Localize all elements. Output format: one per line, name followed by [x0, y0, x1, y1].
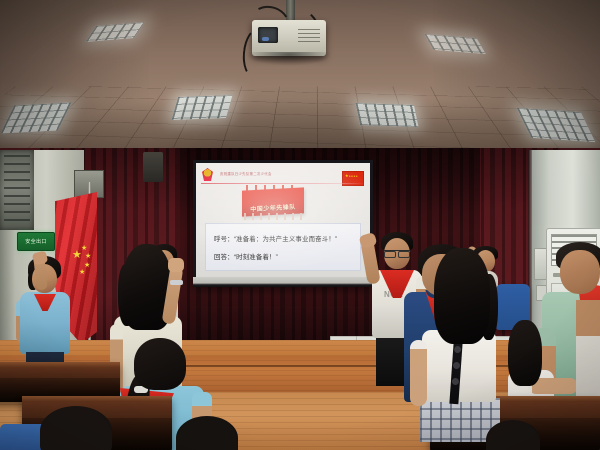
projector-lens-icon [258, 27, 278, 43]
man-white-saluting-hand [359, 232, 378, 249]
wristwatch-icon [170, 280, 183, 285]
woman-plaid-arm [410, 340, 427, 406]
person-foreground-head-left [40, 406, 112, 450]
left-wall-vent-panel [0, 150, 34, 230]
flag-star-icon: ★ [84, 262, 90, 269]
young-pioneers-emblem-icon [202, 168, 213, 181]
woman-cream-saluting-hand [168, 258, 184, 272]
girl-ponytail-hair [134, 338, 186, 390]
slide-banner-text: 中国少年先锋队 [242, 201, 304, 213]
desk-top-surface [22, 396, 172, 402]
ceiling-projector [252, 20, 326, 56]
flag-star-icon: ★ [85, 253, 91, 260]
classroom-photo-scene: 安全出口 ★ ★ ★ ★ ★ 庆祝建队日少先队第二次少代会 ★★★★★ 中国少年… [0, 0, 600, 450]
flag-star-icon: ★ [79, 269, 85, 276]
flag-star-icon: ★ [81, 245, 87, 252]
slide-call-line: 呼号：“准备着：为共产主义事业而奋斗！” [214, 234, 337, 243]
woman-seated-hair [508, 320, 542, 386]
slide-header: 庆祝建队日少先队第二次少代会 ★★★★★ [196, 168, 370, 183]
projection-screen-bottom-bar [193, 277, 373, 287]
wall-speaker-icon [143, 152, 163, 182]
slide-text-box: 呼号：“准备着：为共产主义事业而奋斗！” 回答：“时刻准备着！” [205, 223, 361, 271]
projection-screen-surface: 庆祝建队日少先队第二次少代会 ★★★★★ 中国少年先锋队 呼号：“准备着：为共产… [196, 163, 370, 281]
slide-response-line: 回答：“时刻准备着！” [214, 252, 278, 261]
mini-flag-stars: ★★★★★ [345, 174, 358, 179]
mini-flag-small-stars: ★★★★ [349, 175, 358, 178]
slide-divider [201, 183, 365, 184]
glasses-icon [383, 250, 411, 257]
projector-vent [298, 29, 320, 42]
projection-screen: 庆祝建队日少先队第二次少代会 ★★★★★ 中国少年先锋队 呼号：“准备着：为共产… [193, 160, 373, 284]
projector-shadow [246, 52, 332, 66]
slide-header-title: 庆祝建队日少先队第二次少代会 [220, 171, 272, 176]
desk-top-surface [0, 362, 120, 368]
woman-plaid-hair [434, 248, 490, 344]
person-woman-plaid-skirt [418, 248, 510, 448]
man-mint-head [560, 250, 600, 294]
banner-bottom-tassels [244, 213, 302, 220]
